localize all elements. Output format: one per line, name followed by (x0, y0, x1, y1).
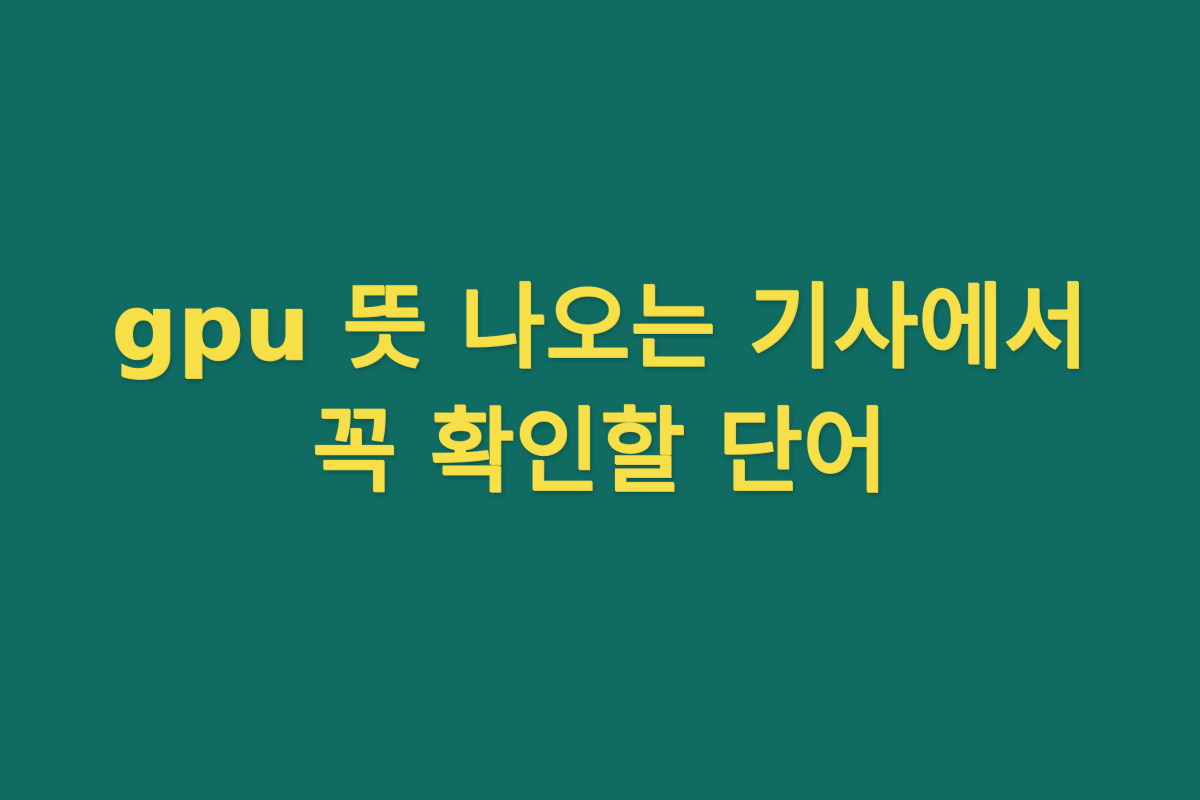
headline-line-1: gpu 뜻 나오는 기사에서 (0, 279, 1200, 377)
headline-line-2: 꼭 확인할 단어 (0, 403, 1200, 501)
banner-canvas: gpu 뜻 나오는 기사에서 꼭 확인할 단어 (0, 0, 1200, 800)
headline-block: gpu 뜻 나오는 기사에서 꼭 확인할 단어 (0, 279, 1200, 502)
